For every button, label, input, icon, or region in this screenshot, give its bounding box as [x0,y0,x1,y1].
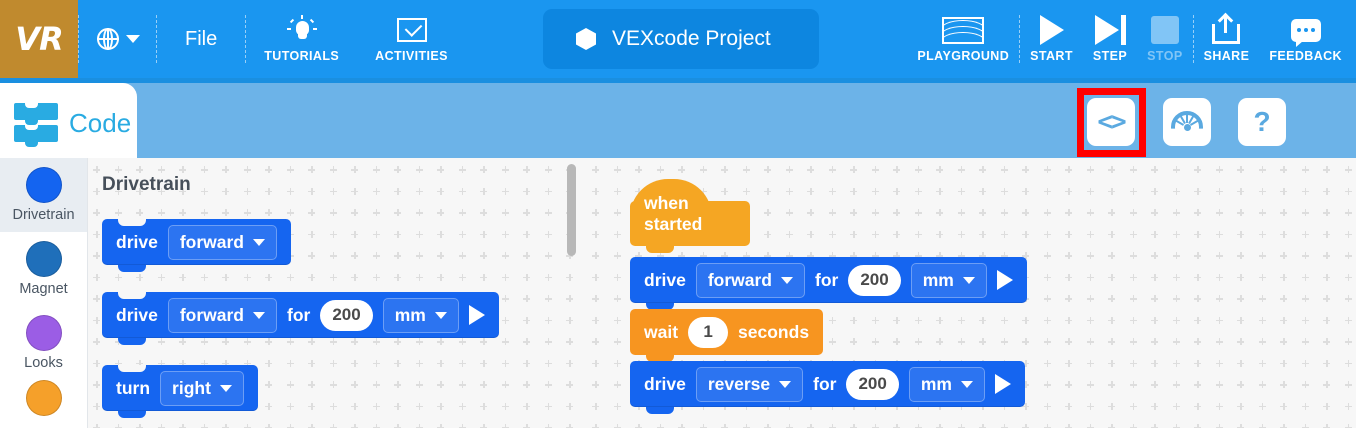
palette-block-turn-direction[interactable]: turn right [102,365,258,411]
run-arrow-icon[interactable] [469,305,485,325]
comment-bubble-icon [1291,15,1321,45]
code-workspace[interactable]: when started drive forward for 200 mm wa… [578,158,1356,428]
dropdown-direction-value: forward [180,305,244,326]
block-label-for: for [815,270,838,291]
start-label: START [1030,49,1073,63]
start-button[interactable]: START [1020,0,1083,78]
dropdown-unit-value: mm [395,305,426,326]
block-label-seconds: seconds [738,322,809,343]
step-forward-icon [1095,15,1126,45]
feedback-button[interactable]: FEEDBACK [1259,0,1356,78]
chevron-down-icon [126,35,140,43]
block-label-when-started: when started [644,193,750,235]
stop-square-icon [1151,15,1179,45]
tutorials-label: TUTORIALS [264,49,339,63]
dropdown-direction[interactable]: forward [168,225,277,260]
play-icon [1040,15,1064,45]
chevron-down-icon [781,277,793,284]
sidebar-item-looks[interactable]: Looks [0,306,87,380]
workspace-block-wait[interactable]: wait 1 seconds [630,309,823,355]
drivetrain-color-dot [26,167,62,203]
chevron-down-icon [253,239,265,246]
dropdown-direction-value: forward [180,232,244,253]
tab-code[interactable]: Code [0,83,137,163]
block-label-drive: drive [644,270,686,291]
blocks-icon [14,103,58,143]
block-label-wait: wait [644,322,678,343]
chevron-down-icon [961,381,973,388]
block-label-drive: drive [116,232,158,253]
dropdown-direction[interactable]: reverse [696,367,803,402]
category-sidebar: Drivetrain Magnet Looks [0,158,88,428]
sidebar-item-looks-label: Looks [24,355,63,371]
dropdown-unit-value: mm [921,374,952,395]
dropdown-unit[interactable]: mm [383,298,459,333]
globe-icon [97,28,119,50]
hexagon-icon [576,28,596,50]
code-view-button[interactable]: <> [1087,98,1135,146]
distance-input[interactable]: 200 [320,300,372,331]
file-menu-button[interactable]: File [157,0,245,78]
block-label-turn: turn [116,378,150,399]
block-label-drive: drive [116,305,158,326]
project-name-button[interactable]: VEXcode Project [543,9,819,69]
sub-toolbar-accent-line [0,78,1356,83]
chevron-down-icon [779,381,791,388]
activities-button[interactable]: ACTIVITIES [357,0,466,78]
block-label-drive: drive [644,374,686,395]
dropdown-unit[interactable]: mm [909,367,985,402]
vexcode-vr-window: VR File TUTORI [0,0,1356,428]
playground-label: PLAYGROUND [917,49,1009,63]
dropdown-direction[interactable]: forward [168,298,277,333]
chevron-down-icon [220,385,232,392]
dropdown-turn-direction[interactable]: right [160,371,244,406]
distance-input[interactable]: 200 [846,369,898,400]
lightbulb-icon [287,15,317,45]
workspace-block-drive-reverse[interactable]: drive reverse for 200 mm [630,361,1025,407]
dropdown-turn-direction-value: right [172,378,211,399]
help-button[interactable]: ? [1238,98,1286,146]
run-arrow-icon[interactable] [995,374,1011,394]
share-button[interactable]: SHARE [1194,0,1260,78]
workspace-block-when-started[interactable]: when started [630,201,750,246]
dropdown-unit[interactable]: mm [911,263,987,298]
sound-color-dot [26,380,62,416]
chevron-down-icon [435,312,447,319]
block-label-for: for [287,305,310,326]
dashboard-button[interactable] [1163,98,1211,146]
distance-input[interactable]: 200 [848,265,900,296]
gauge-icon [1171,111,1203,133]
question-mark-icon: ? [1253,106,1270,138]
palette-category-title: Drivetrain [102,174,191,196]
dropdown-direction-value: reverse [708,374,770,395]
toolbar-right-group: PLAYGROUND START STEP STOP S [907,0,1356,78]
chevron-down-icon [963,277,975,284]
palette-block-drive-for-distance[interactable]: drive forward for 200 mm [102,292,499,338]
vr-logo: VR [0,0,78,78]
palette-scrollbar-thumb[interactable] [567,164,576,256]
sidebar-item-sound[interactable] [0,380,87,420]
sub-toolbar [0,78,1356,158]
step-label: STEP [1093,49,1127,63]
step-button[interactable]: STEP [1083,0,1137,78]
sidebar-item-drivetrain-label: Drivetrain [12,207,74,223]
sidebar-item-magnet[interactable]: Magnet [0,232,87,306]
stop-button[interactable]: STOP [1137,0,1192,78]
project-name-label: VEXcode Project [612,27,771,51]
language-selector[interactable] [79,0,156,78]
activities-label: ACTIVITIES [375,49,448,63]
checkbox-check-icon [397,15,427,45]
seconds-input[interactable]: 1 [688,317,728,348]
dropdown-direction-value: forward [708,270,772,291]
file-menu-label: File [185,28,217,51]
feedback-label: FEEDBACK [1269,49,1342,63]
tutorials-button[interactable]: TUTORIALS [246,0,357,78]
dropdown-unit-value: mm [923,270,954,291]
dropdown-direction[interactable]: forward [696,263,805,298]
sidebar-item-drivetrain[interactable]: Drivetrain [0,158,87,232]
angle-brackets-icon: <> [1097,107,1124,137]
looks-color-dot [26,315,62,351]
share-export-icon [1212,15,1240,45]
magnet-color-dot [26,241,62,277]
block-label-for: for [813,374,836,395]
stop-label: STOP [1147,49,1182,63]
tab-code-label: Code [69,108,131,139]
workspace-block-drive-forward[interactable]: drive forward for 200 mm [630,257,1027,303]
run-arrow-icon[interactable] [997,270,1013,290]
sidebar-item-magnet-label: Magnet [19,281,67,297]
palette-block-drive-direction[interactable]: drive forward [102,219,291,265]
share-label: SHARE [1204,49,1250,63]
chevron-down-icon [253,312,265,319]
block-palette[interactable]: Drivetrain drive forward drive forward f… [88,158,578,428]
playground-field-icon [942,15,984,45]
playground-button[interactable]: PLAYGROUND [907,0,1019,78]
